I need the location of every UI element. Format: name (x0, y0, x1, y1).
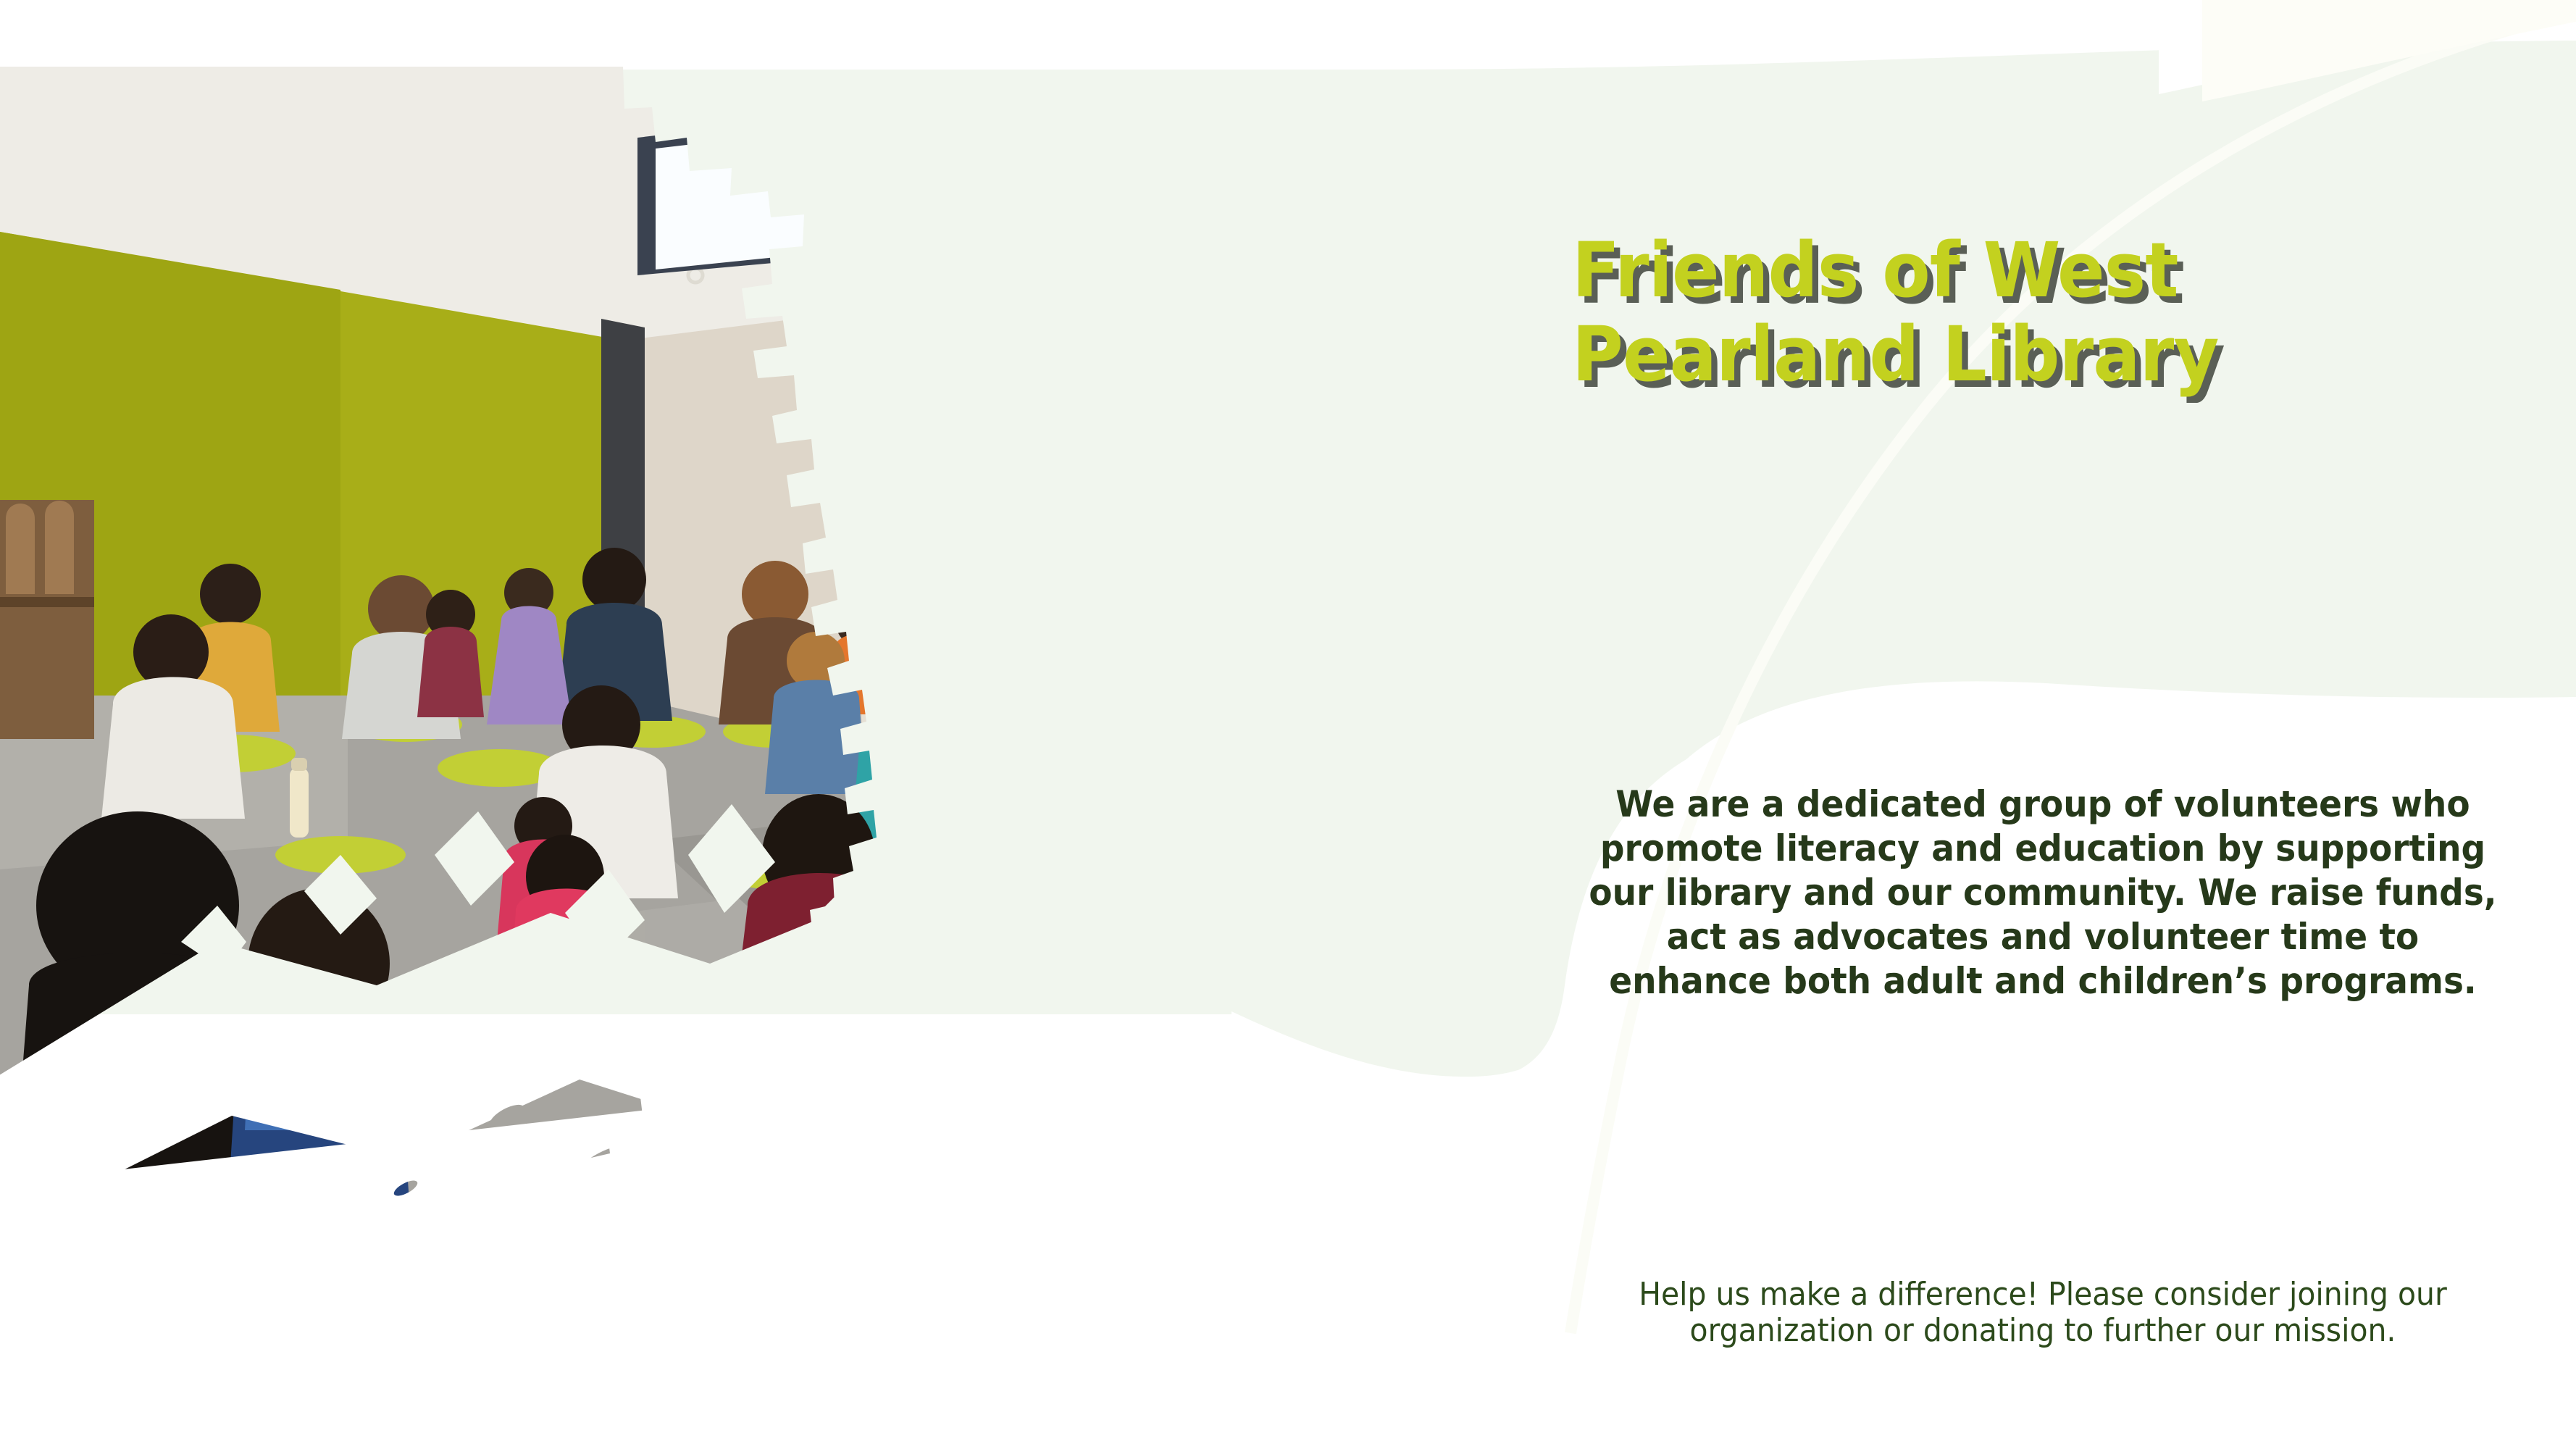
text-column: Friends of West Pearland Library We are … (1507, 0, 2576, 1449)
screen-cloud (1042, 310, 1339, 510)
page-title: Friends of West Pearland Library (1572, 228, 2252, 397)
photo-illustration: Time For a Book! (0, 0, 1492, 1449)
call-to-action-text: Help us make a difference! Please consid… (1585, 1277, 2501, 1349)
wall-screen: Time For a Book! (1014, 310, 1355, 522)
presenter-table (1036, 503, 1376, 782)
slide-canvas: Time For a Book! (0, 0, 2576, 1449)
screen-text-line1: Time For a (1090, 377, 1281, 414)
mission-paragraph: We are a dedicated group of volunteers w… (1580, 782, 2506, 1003)
library-story-time-photo: Time For a Book! (0, 0, 1492, 1449)
presenter (849, 398, 1005, 760)
screen-text-line2: Book! (1132, 422, 1238, 459)
shelving (0, 500, 94, 739)
